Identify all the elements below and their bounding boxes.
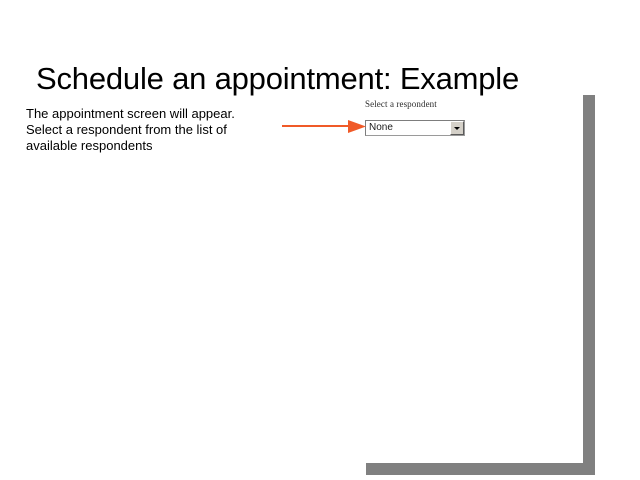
- slide-body-text: The appointment screen will appear. Sele…: [26, 106, 258, 154]
- page-title: Schedule an appointment: Example: [36, 61, 616, 97]
- capture-shadow-bottom: [366, 463, 595, 475]
- slide-canvas: Schedule an appointment: Example The app…: [0, 0, 640, 480]
- capture-shadow-right: [583, 95, 595, 463]
- right-arrow-icon: [282, 118, 366, 134]
- caret-glyph: [454, 127, 460, 130]
- select-a-respondent-label: Select a respondent: [365, 99, 437, 110]
- respondent-dropdown-value: None: [366, 122, 450, 134]
- respondent-dropdown[interactable]: None: [365, 120, 465, 136]
- chevron-down-icon[interactable]: [450, 121, 464, 135]
